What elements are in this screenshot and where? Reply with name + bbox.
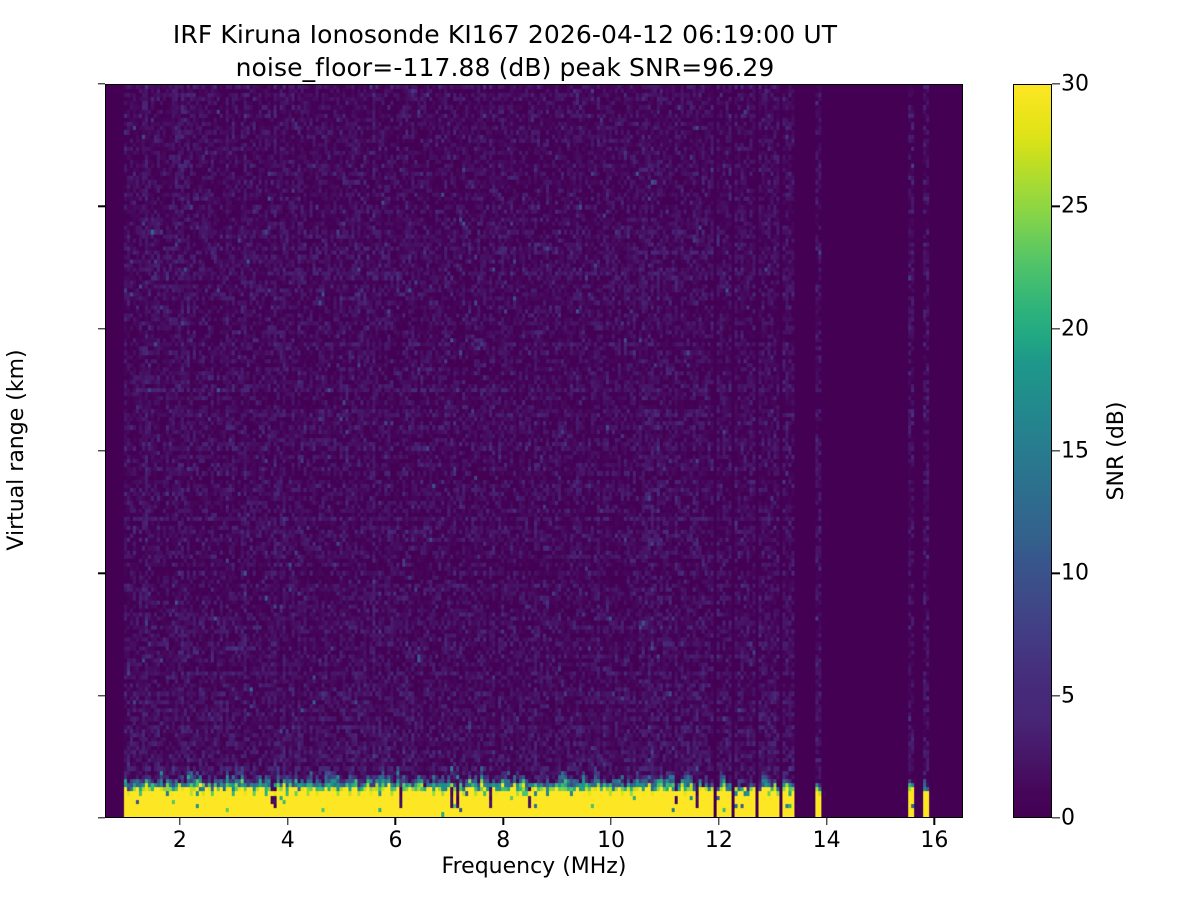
- x-tick-label: 14: [813, 828, 841, 853]
- x-tick-label: 16: [920, 828, 948, 853]
- ionogram-heatmap-canvas: [106, 85, 962, 817]
- x-tick-mark: [934, 818, 935, 825]
- y-tick-mark: [98, 450, 105, 451]
- colorbar-tick-label: 20: [1061, 316, 1089, 341]
- x-tick-mark: [395, 818, 396, 825]
- ionogram-figure: IRF Kiruna Ionosonde KI167 2026-04-12 06…: [0, 0, 1200, 900]
- colorbar-label: SNR (dB): [1104, 402, 1129, 501]
- colorbar-tick-mark: [1052, 328, 1060, 329]
- figure-title-line2: noise_floor=-117.88 (dB) peak SNR=96.29: [0, 53, 1010, 82]
- y-tick-mark: [98, 328, 105, 329]
- figure-title-line1: IRF Kiruna Ionosonde KI167 2026-04-12 06…: [0, 20, 1010, 49]
- colorbar-tick-mark: [1052, 817, 1060, 818]
- x-tick-label: 8: [496, 828, 510, 853]
- y-tick-mark: [98, 817, 105, 818]
- x-tick-label: 2: [173, 828, 187, 853]
- colorbar-tick-label: 25: [1061, 194, 1089, 219]
- colorbar: [1013, 84, 1052, 818]
- x-tick-mark: [610, 818, 611, 825]
- x-axis-label: Frequency (MHz): [105, 854, 963, 879]
- y-axis-label: Virtual range (km): [4, 349, 29, 550]
- x-tick-mark: [503, 818, 504, 825]
- colorbar-tick-mark: [1052, 450, 1060, 451]
- x-tick-mark: [179, 818, 180, 825]
- colorbar-gradient-canvas: [1014, 85, 1051, 817]
- x-tick-mark: [287, 818, 288, 825]
- colorbar-tick-mark: [1052, 206, 1060, 207]
- x-tick-label: 6: [388, 828, 402, 853]
- colorbar-tick-mark: [1052, 573, 1060, 574]
- colorbar-tick-mark: [1052, 695, 1060, 696]
- y-tick-mark: [98, 206, 105, 207]
- colorbar-tick-label: 5: [1061, 683, 1075, 708]
- x-tick-mark: [718, 818, 719, 825]
- colorbar-tick-label: 10: [1061, 561, 1089, 586]
- colorbar-tick-label: 30: [1061, 72, 1089, 97]
- y-tick-mark: [98, 573, 105, 574]
- y-tick-mark: [98, 83, 105, 84]
- x-tick-label: 10: [597, 828, 625, 853]
- ionogram-plot-area: [105, 84, 963, 818]
- x-tick-label: 4: [281, 828, 295, 853]
- colorbar-tick-label: 0: [1061, 806, 1075, 831]
- x-tick-mark: [826, 818, 827, 825]
- colorbar-tick-mark: [1052, 83, 1060, 84]
- x-tick-label: 12: [705, 828, 733, 853]
- y-tick-mark: [98, 695, 105, 696]
- colorbar-tick-label: 15: [1061, 439, 1089, 464]
